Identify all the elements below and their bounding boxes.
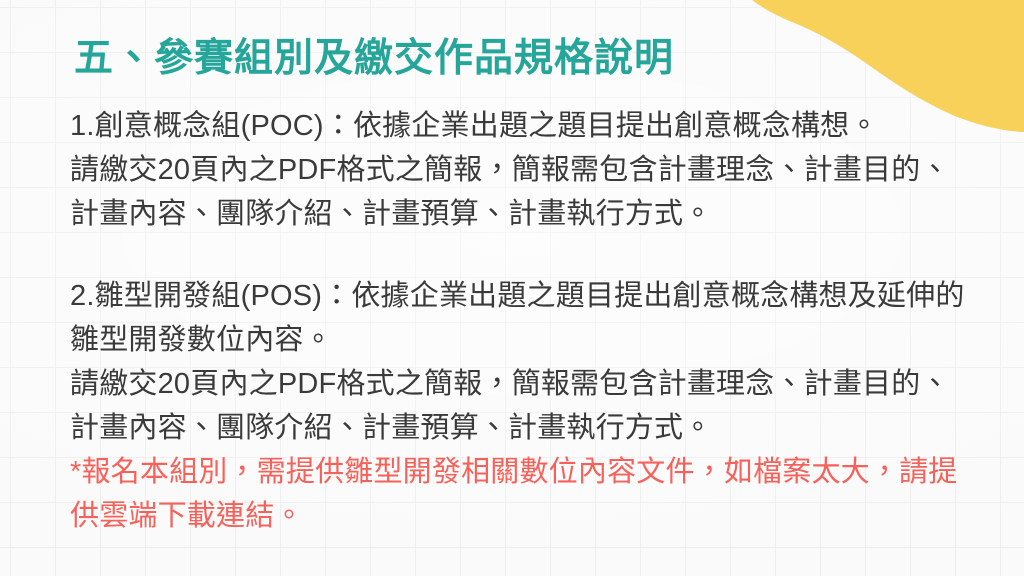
slide-canvas: 五、參賽組別及繳交作品規格說明 1.創意概念組(POC)：依據企業出題之題目提出…: [0, 0, 1024, 576]
red-note-line-1: *報名本組別，需提供雛型開發相關數位內容文件，如檔案太大，請提: [70, 450, 990, 494]
section-poc-line-2: 請繳交20頁內之PDF格式之簡報，簡報需包含計畫理念、計畫目的、: [70, 148, 970, 192]
page-title: 五、參賽組別及繳交作品規格說明: [74, 34, 674, 84]
red-note-line-2: 供雲端下載連結。: [70, 494, 990, 538]
section-poc-line-1: 1.創意概念組(POC)：依據企業出題之題目提出創意概念構想。: [70, 104, 970, 148]
section-pos-intro-line-1: 2.雛型開發組(POS)：依據企業出題之題目提出創意概念構想及延伸的: [70, 274, 970, 318]
section-pos-submission-line-2: 計畫內容、團隊介紹、計畫預算、計畫執行方式。: [70, 406, 970, 450]
section-pos-intro: 2.雛型開發組(POS)：依據企業出題之題目提出創意概念構想及延伸的 雛型開發數…: [70, 274, 970, 362]
section-pos-intro-line-2: 雛型開發數位內容。: [70, 318, 970, 362]
section-poc: 1.創意概念組(POC)：依據企業出題之題目提出創意概念構想。 請繳交20頁內之…: [70, 104, 970, 236]
section-poc-line-3: 計畫內容、團隊介紹、計畫預算、計畫執行方式。: [70, 192, 970, 236]
section-pos-submission-line-1: 請繳交20頁內之PDF格式之簡報，簡報需包含計畫理念、計畫目的、: [70, 362, 970, 406]
slide-content: 五、參賽組別及繳交作品規格說明 1.創意概念組(POC)：依據企業出題之題目提出…: [70, 0, 970, 576]
red-note: *報名本組別，需提供雛型開發相關數位內容文件，如檔案太大，請提 供雲端下載連結。: [70, 450, 990, 538]
section-pos-submission: 請繳交20頁內之PDF格式之簡報，簡報需包含計畫理念、計畫目的、 計畫內容、團隊…: [70, 362, 970, 450]
